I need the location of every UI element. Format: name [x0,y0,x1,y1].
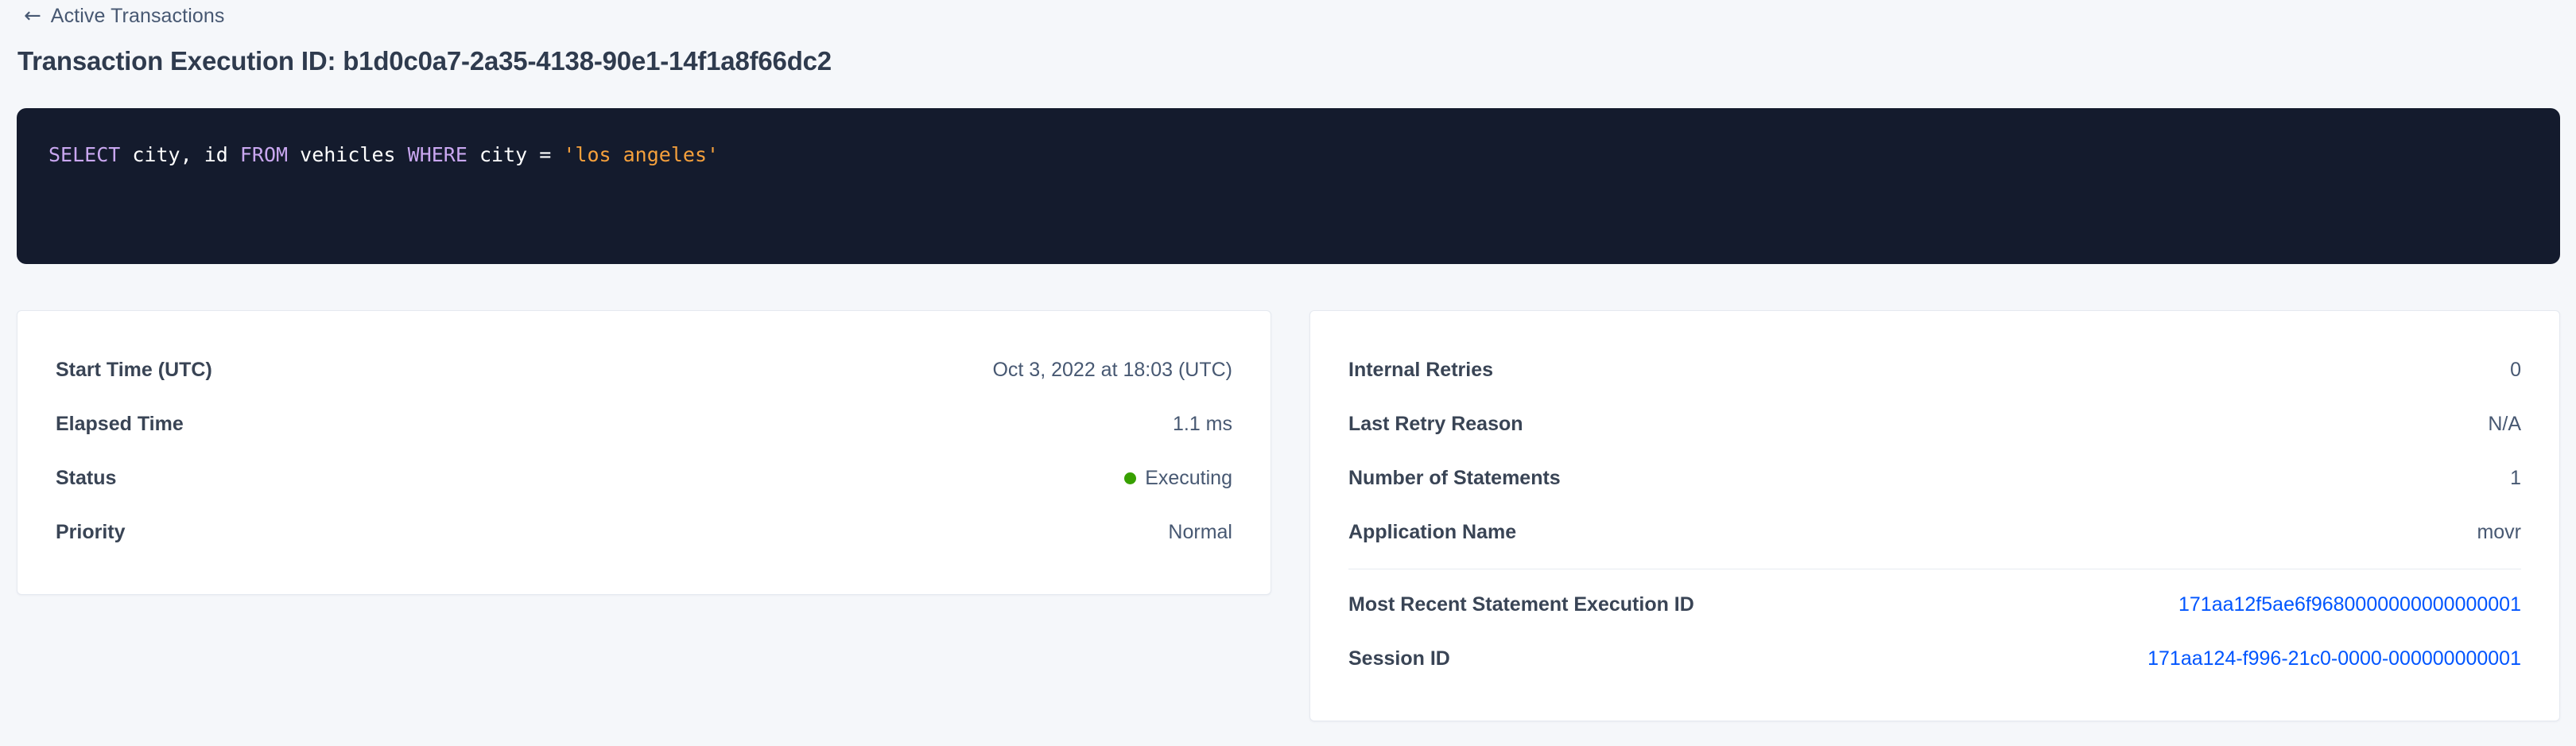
detail-row-label: Elapsed Time [56,413,184,436]
detail-row: Application Namemovr [1348,505,2521,559]
transaction-overview-card: Start Time (UTC)Oct 3, 2022 at 18:03 (UT… [17,310,1271,595]
detail-row-label: Most Recent Statement Execution ID [1348,593,1694,616]
back-to-active-transactions-link[interactable]: ← Active Transactions [24,5,224,27]
detail-row: Last Retry ReasonN/A [1348,397,2521,451]
detail-row-value: 1.1 ms [1173,413,1232,436]
detail-row-link[interactable]: 171aa124-f996-21c0-0000-000000000001 [2147,647,2521,670]
detail-row-label: Session ID [1348,647,1450,670]
detail-row: Session ID171aa124-f996-21c0-0000-000000… [1348,631,2521,686]
detail-row-label: Application Name [1348,521,1516,544]
arrow-left-icon: ← [24,6,41,26]
sql-token-keyword: WHERE [408,143,467,166]
breadcrumb-label: Active Transactions [51,5,225,28]
sql-token-keyword: SELECT [48,143,120,166]
detail-row-label: Number of Statements [1348,467,1561,490]
detail-row-label: Priority [56,521,126,544]
detail-row-label: Start Time (UTC) [56,359,212,382]
status-badge: Executing [1124,467,1232,490]
detail-row-label: Status [56,467,116,490]
detail-row: Most Recent Statement Execution ID171aa1… [1348,577,2521,631]
transaction-detail-page: ← Active Transactions Transaction Execut… [0,0,2576,746]
page-title: Transaction Execution ID: b1d0c0a7-2a35-… [17,46,832,76]
detail-row-value: Oct 3, 2022 at 18:03 (UTC) [992,359,1232,382]
sql-token-string: 'los angeles' [563,143,719,166]
detail-row-link[interactable]: 171aa12f5ae6f9680000000000000001 [2178,593,2521,616]
sql-token-plain [527,143,539,166]
sql-token-keyword: FROM [240,143,288,166]
overview-rows: Start Time (UTC)Oct 3, 2022 at 18:03 (UT… [56,343,1232,559]
detail-row-value: Normal [1168,521,1232,544]
details-rows: Internal Retries0Last Retry ReasonN/ANum… [1348,343,2521,559]
sql-token-plain [228,143,240,166]
status-dot-icon [1124,472,1136,484]
sql-statement-block: SELECT city, id FROM vehicles WHERE city… [17,108,2560,264]
detail-row: Elapsed Time1.1 ms [56,397,1232,451]
detail-row-value: movr [2477,521,2521,544]
sql-token-plain [467,143,479,166]
sql-token-identifier: city [479,143,527,166]
detail-row-label: Internal Retries [1348,359,1493,382]
detail-row: Start Time (UTC)Oct 3, 2022 at 18:03 (UT… [56,343,1232,397]
status-label: Executing [1145,467,1232,490]
detail-cards-row: Start Time (UTC)Oct 3, 2022 at 18:03 (UT… [17,310,2560,721]
detail-row-value: Executing [1124,467,1232,490]
sql-token-plain [288,143,300,166]
sql-token-operator: = [539,143,551,166]
sql-token-identifier: vehicles [300,143,395,166]
sql-token-plain [396,143,408,166]
sql-token-identifier: city [132,143,180,166]
sql-token-plain [120,143,132,166]
detail-row: Internal Retries0 [1348,343,2521,397]
sql-token-plain [551,143,563,166]
card-divider [1348,569,2521,569]
transaction-details-card: Internal Retries0Last Retry ReasonN/ANum… [1309,310,2560,721]
sql-token-punctuation: , [180,143,204,166]
sql-token-identifier: id [204,143,228,166]
detail-row: PriorityNormal [56,505,1232,559]
detail-row-value: 1 [2510,467,2521,490]
detail-row-label: Last Retry Reason [1348,413,1523,436]
sql-statement-text: SELECT city, id FROM vehicles WHERE city… [48,143,2528,167]
details-rows-ids: Most Recent Statement Execution ID171aa1… [1348,577,2521,686]
detail-row-value: 0 [2510,359,2521,382]
detail-row: StatusExecuting [56,451,1232,505]
detail-row-value: N/A [2488,413,2521,436]
detail-row: Number of Statements1 [1348,451,2521,505]
